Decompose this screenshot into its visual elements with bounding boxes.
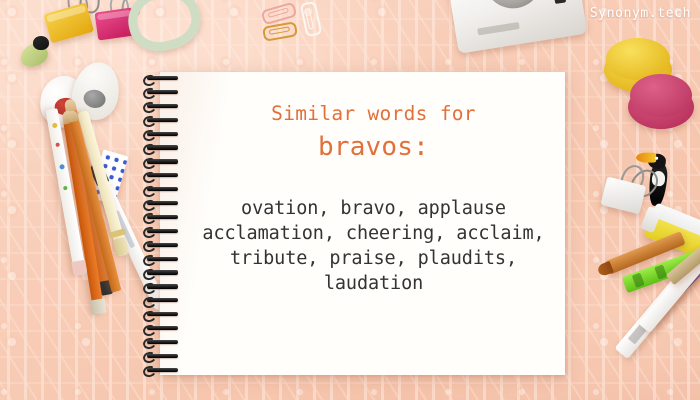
synonym-line: acclamation, cheering, acclaim,	[182, 221, 565, 246]
spiral-ring	[147, 76, 180, 80]
notepad-content: Similar words for bravos: ovation, bravo…	[182, 72, 565, 375]
spiral-ring	[147, 215, 180, 219]
spiral-ring	[147, 368, 180, 372]
spiral-ring	[147, 340, 180, 344]
spiral-ring	[147, 145, 180, 149]
macaron-pink	[628, 74, 694, 132]
spiral-ring	[147, 312, 180, 316]
spiral-ring	[147, 201, 180, 205]
spiral-ring	[147, 104, 180, 108]
spiral-ring	[147, 229, 180, 233]
spiral-ring	[147, 159, 180, 163]
spiral-ring	[147, 270, 180, 274]
similar-words-heading: Similar words for	[182, 102, 565, 126]
spiral-ring	[147, 173, 180, 177]
spiral-ring	[147, 298, 180, 302]
spiral-ring	[147, 243, 180, 247]
synonym-line: tribute, praise, plaudits,	[182, 246, 565, 271]
spiral-binding	[146, 76, 180, 372]
desk-scene: Similar words for bravos: ovation, bravo…	[0, 0, 700, 400]
spiral-ring	[147, 118, 180, 122]
spiral-ring	[147, 132, 180, 136]
spiral-ring	[147, 90, 180, 94]
spiral-ring	[147, 326, 180, 330]
synonym-line: ovation, bravo, applause	[182, 196, 565, 221]
spiral-ring	[147, 354, 180, 358]
synonym-list: ovation, bravo, applause acclamation, ch…	[182, 196, 565, 296]
bird-figurine	[20, 36, 50, 66]
headword: bravos:	[182, 131, 565, 164]
spiral-ring	[147, 187, 180, 191]
synonym-line: laudation	[182, 271, 565, 296]
spiral-ring	[147, 257, 180, 261]
spiral-ring	[147, 284, 180, 288]
site-watermark: Synonym.tech	[590, 6, 691, 21]
